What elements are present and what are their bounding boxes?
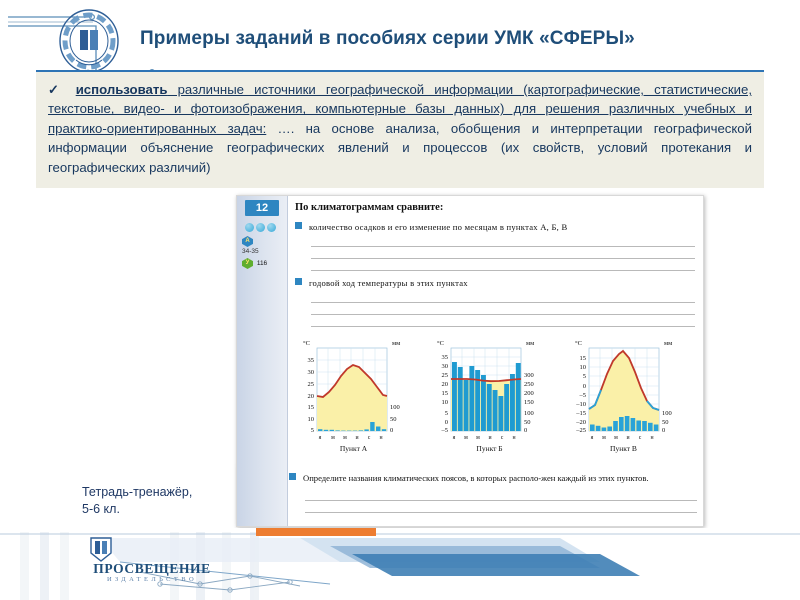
chart-b-y2label: мм [526, 340, 534, 347]
svg-text:30: 30 [442, 363, 449, 370]
svg-text:100: 100 [662, 410, 672, 417]
svg-text:200: 200 [524, 390, 534, 397]
atlas-reference: А 34-35 [242, 236, 286, 255]
chart-b-xticks: ямм исн [453, 435, 516, 441]
svg-text:м: м [476, 435, 480, 441]
sub-question-1: количество осадков и его изменение по ме… [295, 217, 695, 271]
svg-text:50: 50 [662, 419, 669, 426]
chart-a-yticks: 353025 201510 5 [308, 357, 315, 434]
answer-rule-line[interactable] [311, 247, 695, 259]
svg-text:я: я [453, 435, 456, 441]
svg-text:20: 20 [308, 393, 315, 400]
svg-text:15: 15 [308, 404, 315, 411]
svg-text:10: 10 [442, 399, 449, 406]
svg-text:10: 10 [580, 364, 587, 371]
svg-text:–15: –15 [575, 410, 586, 417]
chart-a-ylabel: °C [303, 340, 310, 347]
worksheet-page-image: 12 А 34-35 У 116 По климатограммам сравн… [236, 195, 704, 527]
svg-text:50: 50 [524, 419, 531, 426]
svg-text:250: 250 [524, 381, 534, 388]
caption-line-1: Тетрадь-тренажёр, [82, 484, 242, 501]
climatogram-b: °C мм [427, 336, 552, 461]
worksheet-question-title: По климатограммам сравните: [295, 202, 695, 213]
svg-text:н: н [650, 435, 653, 441]
climatogram-a: °C мм [291, 336, 416, 461]
chart-a-xticks: ямм исн [319, 435, 383, 441]
svg-text:15: 15 [442, 390, 449, 397]
bullet-square-icon [289, 473, 296, 480]
standard-text-panel: ✓ использовать различные источники геогр… [36, 70, 764, 188]
svg-text:0: 0 [583, 383, 586, 390]
bullet-square-icon [295, 278, 302, 285]
answer-rule-line[interactable] [305, 489, 697, 501]
atlas-badge-icon: А [242, 236, 253, 247]
svg-text:с: с [639, 435, 642, 441]
answer-rule-line[interactable] [311, 259, 695, 271]
sub-question-2-text: годовой ход температуры в этих пунктах [309, 278, 468, 288]
final-question-text: Определите названия климатических поясов… [303, 473, 649, 483]
chart-c-y2ticks: 100500 [662, 410, 672, 434]
final-question-block: Определите названия климатических поясов… [289, 468, 697, 513]
text-lead-bold: использовать [76, 82, 168, 97]
svg-text:и: и [626, 435, 629, 441]
svg-text:35: 35 [442, 354, 449, 361]
chart-b-ylabel: °C [437, 340, 444, 347]
svg-text:150: 150 [524, 399, 534, 406]
worksheet-caption: Тетрадь-тренажёр, 5-6 кл. [82, 484, 242, 518]
svg-text:–20: –20 [575, 419, 586, 426]
chart-b-yticks: 353025 201510 50–5 [441, 354, 449, 434]
svg-text:я: я [591, 435, 594, 441]
chart-a-title: Пункт А [291, 444, 416, 453]
svg-text:50: 50 [390, 416, 397, 423]
chart-c-xticks: ямм исн [591, 435, 654, 441]
svg-text:с: с [501, 435, 504, 441]
svg-text:20: 20 [442, 381, 449, 388]
answer-rule-line[interactable] [311, 235, 695, 247]
chart-c-title: Пункт В [561, 444, 686, 453]
chart-c-ylabel: °C [575, 340, 582, 347]
svg-text:я: я [319, 435, 322, 441]
checkmark-icon: ✓ [48, 82, 66, 97]
answer-rule-line[interactable] [311, 303, 695, 315]
svg-text:5: 5 [583, 373, 586, 380]
publisher-subtitle: ИЗДАТЕЛЬСТВО [52, 576, 252, 583]
svg-text:и: и [488, 435, 491, 441]
svg-text:н: н [379, 435, 382, 441]
svg-text:–10: –10 [575, 401, 586, 408]
svg-text:м: м [602, 435, 606, 441]
svg-text:м: м [343, 435, 347, 441]
bullet-square-icon [295, 222, 302, 229]
svg-text:300: 300 [524, 372, 534, 379]
svg-text:0: 0 [445, 419, 448, 426]
chart-c-yticks: 15105 0–5–10 –15–20–25 [575, 355, 586, 434]
page-title: Примеры заданий в пособиях серии УМК «СФ… [140, 28, 780, 50]
svg-text:0: 0 [524, 427, 527, 434]
svg-text:10: 10 [308, 416, 315, 423]
svg-text:м: м [614, 435, 618, 441]
chart-c-y2label: мм [664, 340, 672, 347]
sub-question-1-text: количество осадков и его изменение по ме… [309, 222, 567, 232]
sub-question-2: годовой ход температуры в этих пунктах [295, 273, 695, 327]
svg-text:5: 5 [445, 410, 448, 417]
svg-text:м: м [331, 435, 335, 441]
svg-text:100: 100 [390, 404, 400, 411]
publisher-name: ПРОСВЕЩЕНИЕ [52, 561, 252, 577]
difficulty-dots-icon [245, 219, 281, 228]
svg-text:30: 30 [308, 369, 315, 376]
prosveshchenie-logo-icon [56, 8, 122, 74]
svg-text:–5: –5 [441, 427, 449, 434]
task-number-badge: 12 [245, 200, 279, 216]
answer-rule-line[interactable] [305, 501, 697, 513]
answer-rule-line[interactable] [311, 291, 695, 303]
svg-text:и: и [355, 435, 358, 441]
svg-text:25: 25 [308, 381, 315, 388]
svg-text:15: 15 [580, 355, 587, 362]
svg-text:н: н [512, 435, 515, 441]
textbook-badge-icon: У [242, 258, 253, 269]
caption-line-2: 5-6 кл. [82, 501, 242, 518]
svg-text:35: 35 [308, 357, 315, 364]
worksheet-sidebar: 12 А 34-35 У 116 [237, 196, 288, 526]
svg-text:–25: –25 [575, 427, 586, 434]
svg-text:0: 0 [390, 427, 393, 434]
svg-text:0: 0 [662, 427, 665, 434]
climatogram-c: °C мм [561, 336, 686, 461]
textbook-reference: У 116 [242, 258, 286, 269]
svg-text:–5: –5 [579, 392, 587, 399]
svg-text:25: 25 [442, 372, 449, 379]
svg-text:с: с [368, 435, 371, 441]
chart-b-title: Пункт Б [427, 444, 552, 453]
chart-b-y2ticks: 300250200 15010050 0 [524, 372, 534, 434]
svg-text:100: 100 [524, 410, 534, 417]
publisher-logo-icon [88, 536, 114, 562]
climatograms-group: °C мм [289, 336, 695, 461]
svg-text:м: м [464, 435, 468, 441]
svg-text:5: 5 [311, 427, 314, 434]
chart-a-y2label: мм [392, 340, 400, 347]
chart-a-y2ticks: 100500 [390, 404, 400, 434]
atlas-pages-label: 34-35 [242, 248, 286, 255]
textbook-page-label: 116 [257, 260, 267, 267]
answer-rule-line[interactable] [311, 315, 695, 327]
